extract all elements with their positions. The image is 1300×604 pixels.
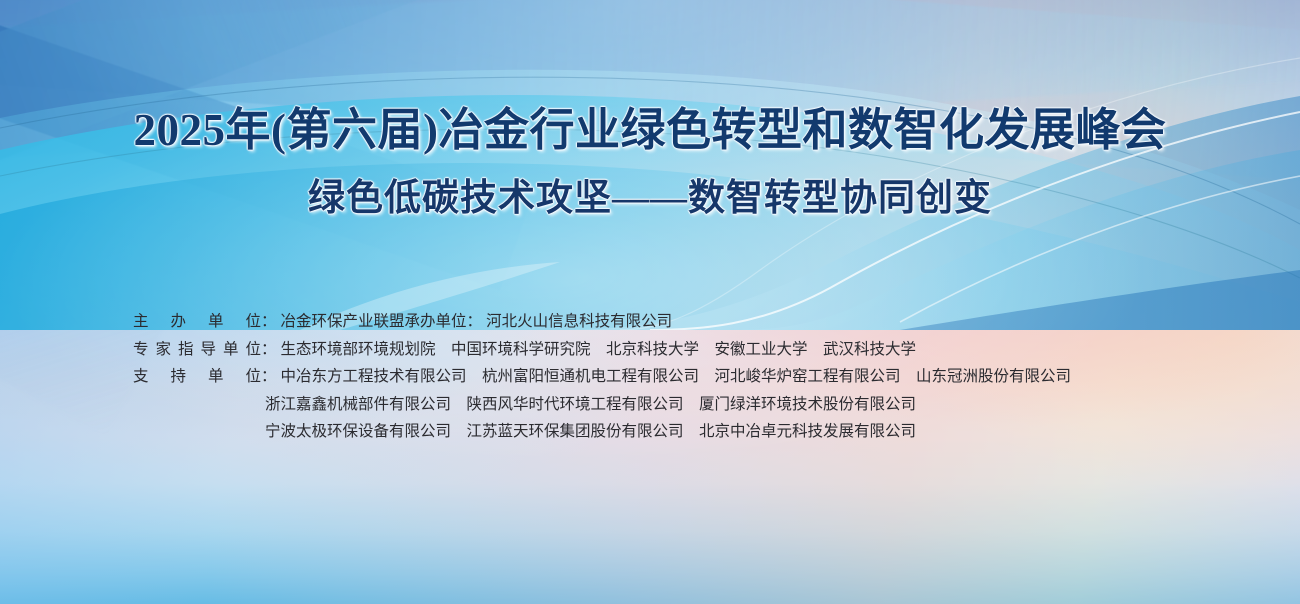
- credit-label-organizer: 主办单位: [133, 308, 261, 336]
- credit-label-co-organizer: 承办单位: [405, 308, 467, 336]
- credit-row-supporters-1: 支持单位 ： 中冶东方工程技术有限公司 杭州富阳恒通机电工程有限公司 河北峻华炉…: [133, 363, 1071, 391]
- credit-label-advisors: 专家指导单位: [133, 336, 261, 364]
- title-block: 2025年(第六届)冶金行业绿色转型和数智化发展峰会 绿色低碳技术攻坚——数智转…: [0, 104, 1300, 221]
- credit-colon-supporters: ：: [261, 363, 277, 391]
- credit-value-advisors: 生态环境部环境规划院 中国环境科学研究院 北京科技大学 安徽工业大学 武汉科技大…: [281, 336, 917, 364]
- credit-value-co-organizer: 河北火山信息科技有限公司: [486, 308, 672, 336]
- credit-row-supporters-3: 宁波太极环保设备有限公司 江苏蓝天环保集团股份有限公司 北京中冶卓元科技发展有限…: [133, 418, 1071, 446]
- credit-value-supporters-3: 宁波太极环保设备有限公司 江苏蓝天环保集团股份有限公司 北京中冶卓元科技发展有限…: [265, 418, 916, 446]
- credit-label-supporters: 支持单位: [133, 363, 261, 391]
- credit-colon-advisors: ：: [261, 336, 277, 364]
- credit-value-supporters-2: 浙江嘉鑫机械部件有限公司 陕西风华时代环境工程有限公司 厦门绿洋环境技术股份有限…: [265, 391, 916, 419]
- credit-value-organizer: 冶金环保产业联盟: [281, 308, 405, 336]
- event-banner: 2025年(第六届)冶金行业绿色转型和数智化发展峰会 绿色低碳技术攻坚——数智转…: [0, 0, 1300, 604]
- page-title: 2025年(第六届)冶金行业绿色转型和数智化发展峰会: [0, 104, 1300, 157]
- credit-row-supporters-2: 浙江嘉鑫机械部件有限公司 陕西风华时代环境工程有限公司 厦门绿洋环境技术股份有限…: [133, 391, 1071, 419]
- page-subtitle: 绿色低碳技术攻坚——数智转型协同创变: [0, 177, 1300, 221]
- credit-colon-2: ：: [467, 308, 483, 336]
- credits-block: 主办单位 ： 冶金环保产业联盟 承办单位 ： 河北火山信息科技有限公司 专家指导…: [133, 308, 1071, 446]
- credit-value-supporters-1: 中冶东方工程技术有限公司 杭州富阳恒通机电工程有限公司 河北峻华炉窑工程有限公司…: [281, 363, 1072, 391]
- credit-colon: ：: [261, 308, 277, 336]
- banner-content: 2025年(第六届)冶金行业绿色转型和数智化发展峰会 绿色低碳技术攻坚——数智转…: [0, 0, 1300, 604]
- credit-row-organizer: 主办单位 ： 冶金环保产业联盟 承办单位 ： 河北火山信息科技有限公司: [133, 308, 1071, 336]
- credit-row-advisors: 专家指导单位 ： 生态环境部环境规划院 中国环境科学研究院 北京科技大学 安徽工…: [133, 336, 1071, 364]
